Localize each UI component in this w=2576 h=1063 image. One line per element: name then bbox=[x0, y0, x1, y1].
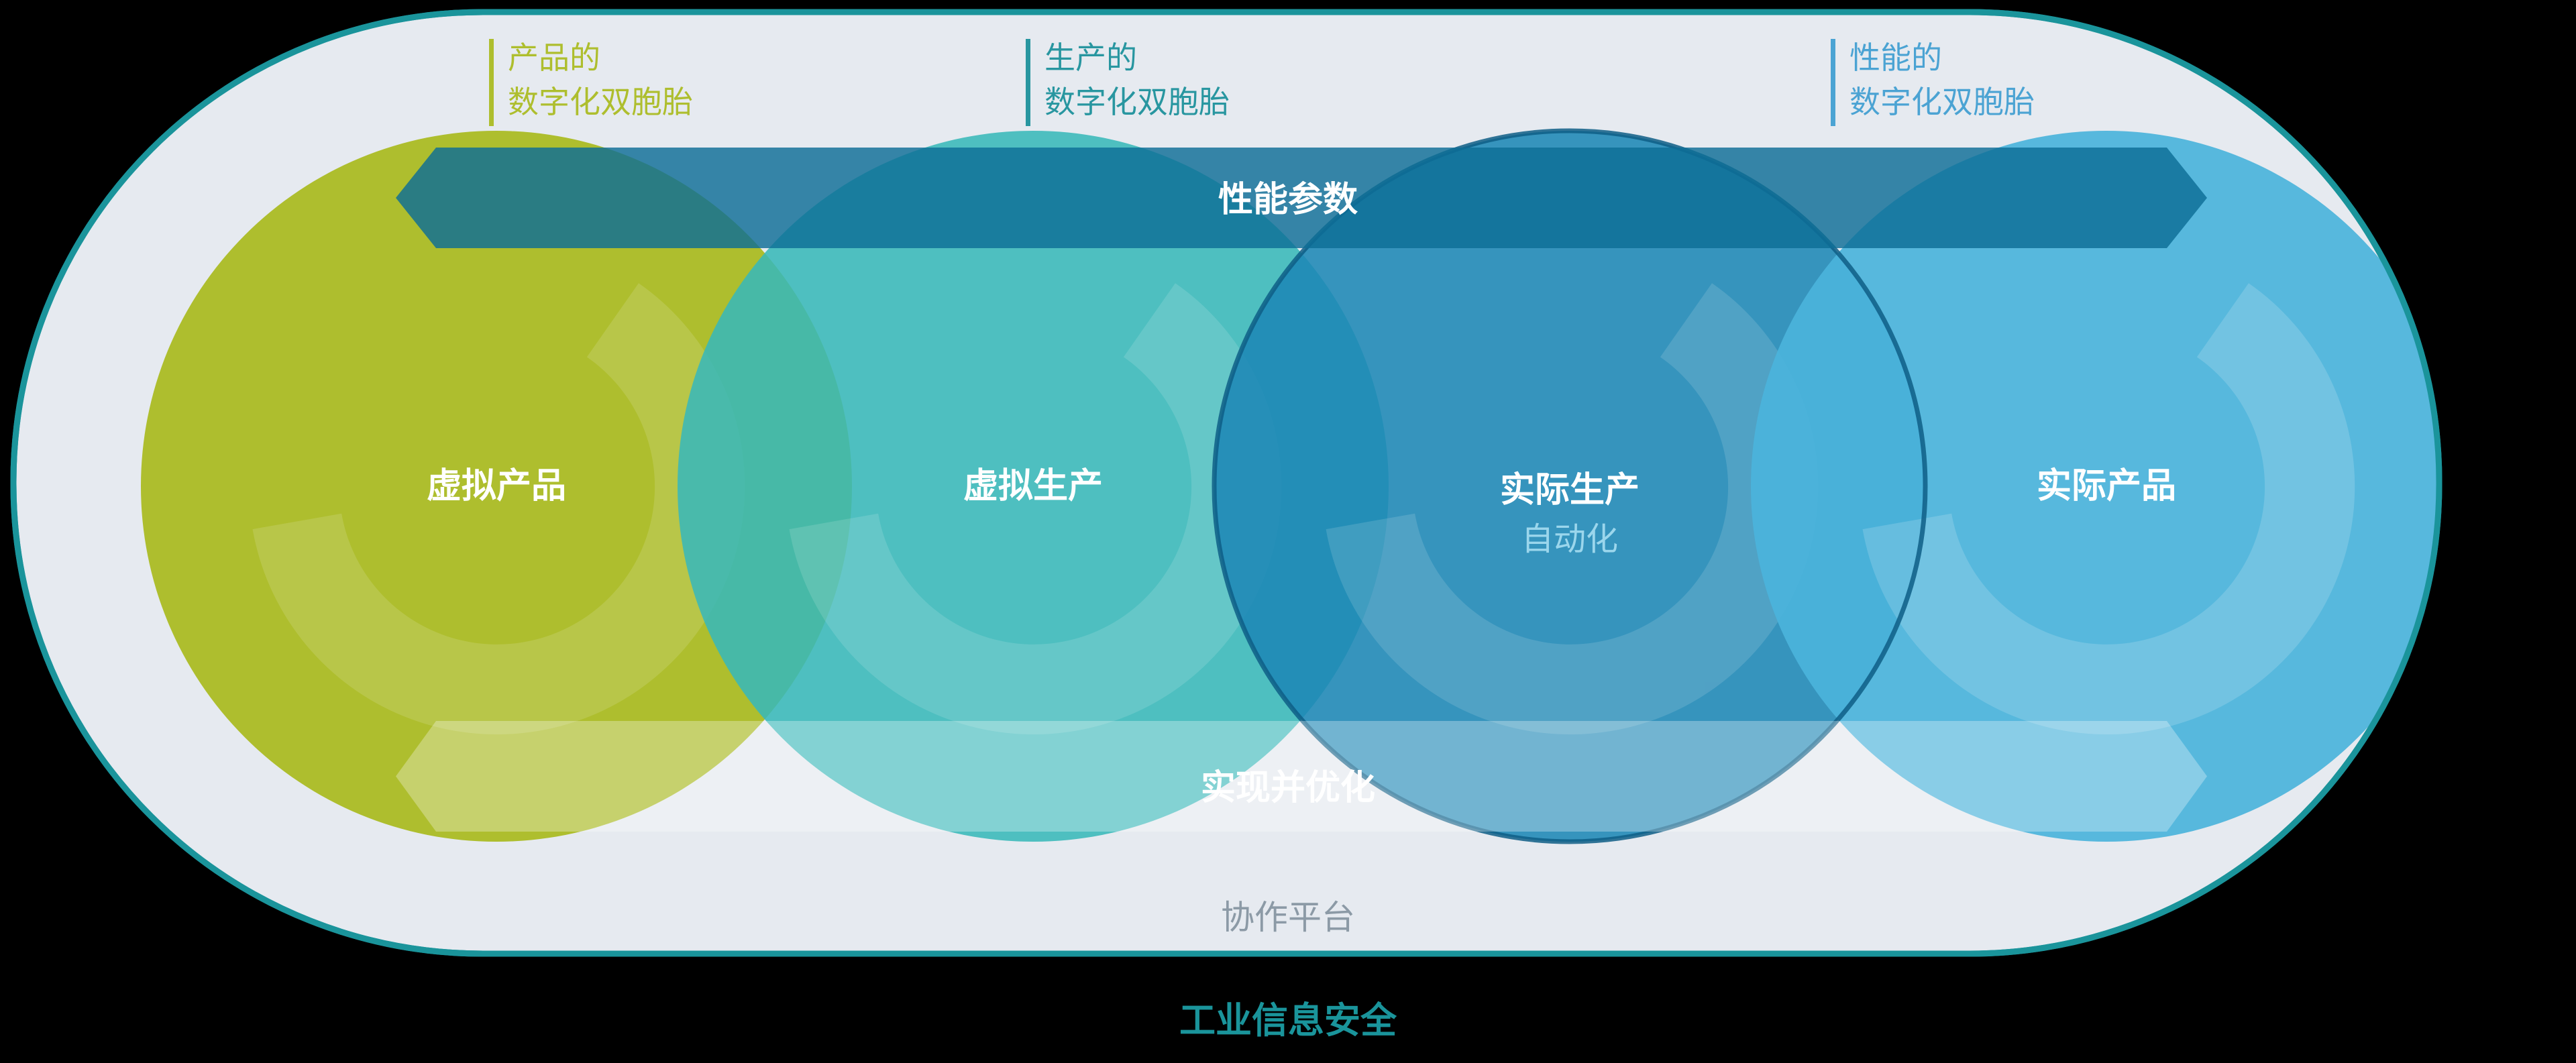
bottom-band-label: 实现并优化 bbox=[1201, 769, 1375, 807]
circle-label-real-production: 实际生产 bbox=[1500, 471, 1640, 510]
circle-sublabel-real-production: 自动化 bbox=[1521, 522, 1618, 557]
callout-divider-0 bbox=[489, 39, 494, 126]
callout-line1-1: 生产的 bbox=[1044, 40, 1137, 75]
callout-divider-2 bbox=[1831, 39, 1835, 126]
callout-line2-1: 数字化双胞胎 bbox=[1044, 85, 1230, 119]
callout-line1-2: 性能的 bbox=[1849, 40, 1942, 75]
digital-twin-diagram: 产品的 数字化双胞胎 生产的 数字化双胞胎 性能的 数字化双胞胎 性能参数 实现… bbox=[0, 0, 2576, 1063]
top-band-label: 性能参数 bbox=[1218, 180, 1358, 219]
security-title: 工业信息安全 bbox=[1179, 1001, 1397, 1041]
callout-divider-1 bbox=[1026, 39, 1030, 126]
circle-label-virtual-product: 虚拟产品 bbox=[427, 467, 566, 506]
platform-label: 协作平台 bbox=[1221, 899, 1355, 936]
callout-line2-2: 数字化双胞胎 bbox=[1849, 85, 2035, 119]
callout-line1-0: 产品的 bbox=[508, 40, 600, 75]
circle-label-virtual-production: 虚拟生产 bbox=[963, 467, 1103, 506]
callout-line2-0: 数字化双胞胎 bbox=[508, 85, 693, 119]
circle-label-real-product: 实际产品 bbox=[2037, 467, 2176, 506]
